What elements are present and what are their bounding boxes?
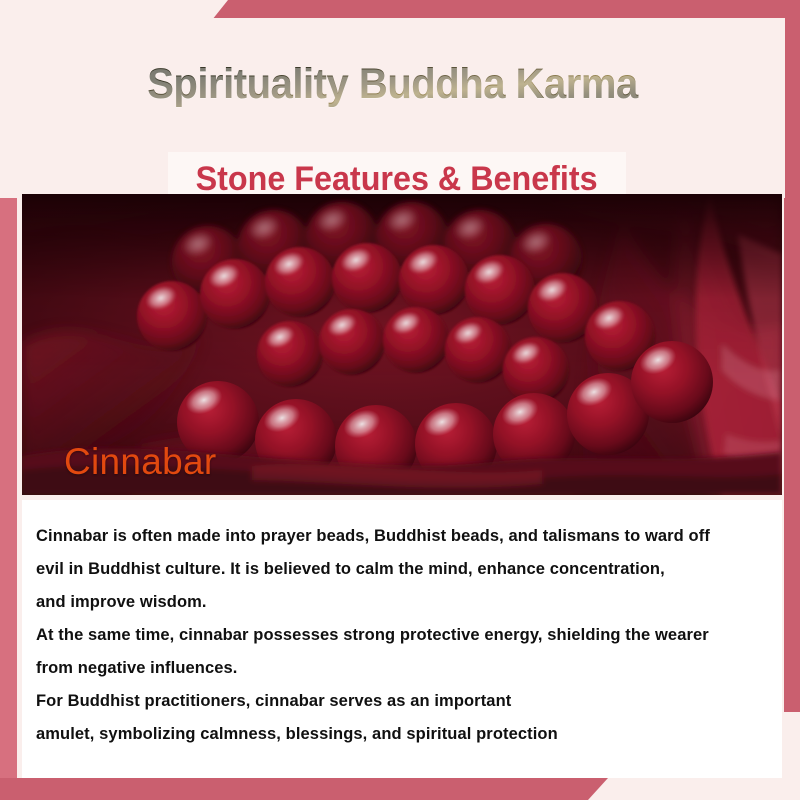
hero-caption: Cinnabar (64, 441, 217, 483)
decorative-left-strip (0, 188, 17, 788)
decorative-right-strip (784, 0, 800, 712)
description-text: Cinnabar is often made into prayer beads… (36, 520, 776, 751)
header-area: Spirituality Buddha Karma Stone Features… (0, 18, 785, 198)
subtitle-text: Stone Features & Benefits (196, 160, 598, 199)
product-info-banner: Spirituality Buddha Karma Stone Features… (0, 0, 800, 800)
decorative-bottom-band (0, 778, 660, 800)
description-paragraph: Cinnabar is often made into prayer beads… (36, 520, 776, 619)
description-paragraph: For Buddhist practitioners, cinnabar ser… (36, 685, 776, 751)
description-paragraph: At the same time, cinnabar possesses str… (36, 619, 776, 685)
description-card: Cinnabar is often made into prayer beads… (22, 500, 782, 778)
page-title: Spirituality Buddha Karma (27, 60, 757, 109)
hero-image: Cinnabar (22, 194, 782, 495)
decorative-top-band (0, 0, 800, 20)
